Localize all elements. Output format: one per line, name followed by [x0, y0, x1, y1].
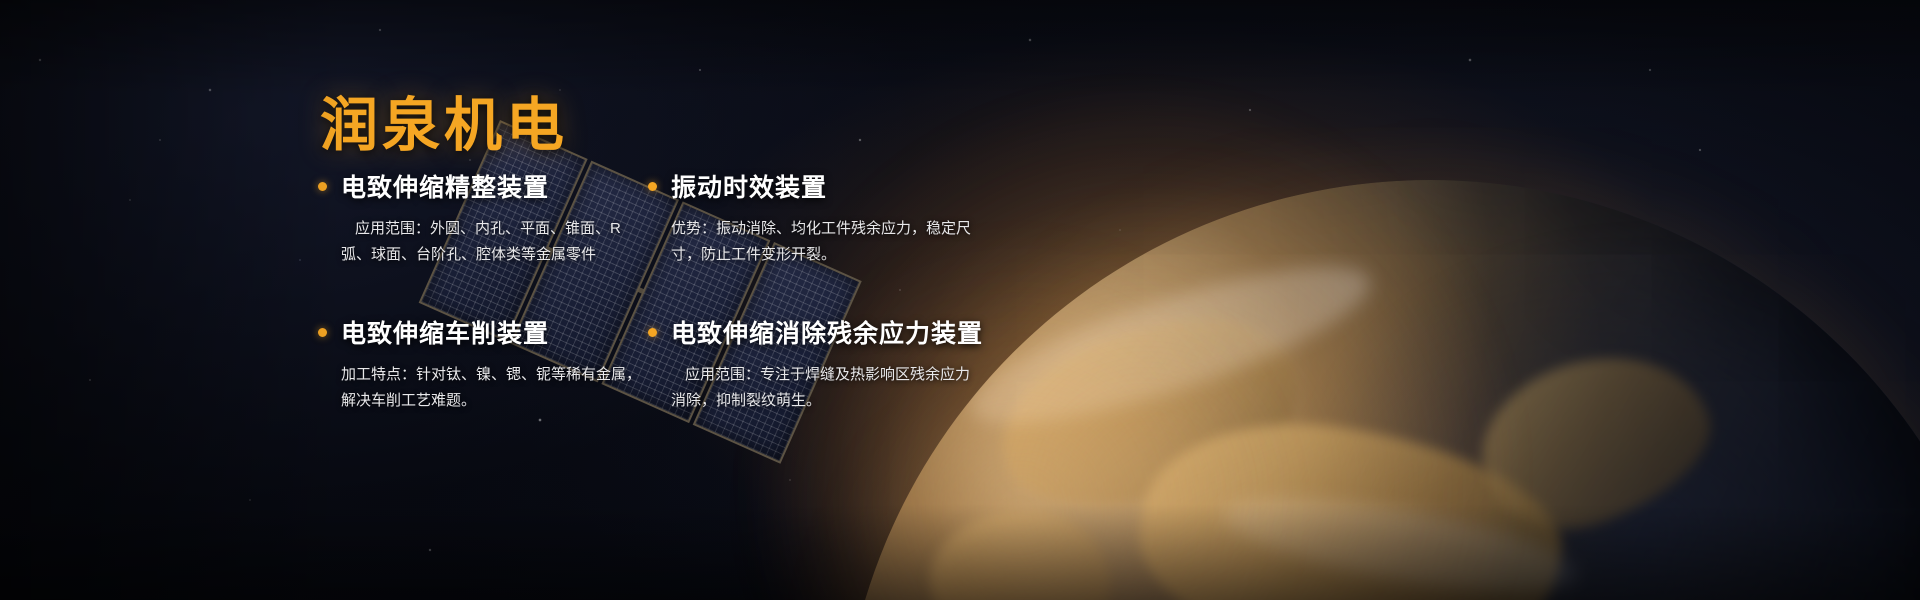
feature-heading: 电致伸缩精整装置 [318, 168, 648, 204]
feature-item[interactable]: 电致伸缩车削装置 加工特点：针对钛、镍、锶、铌等稀有金属，解决车削工艺难题。 [318, 314, 648, 414]
bullet-dot-icon [648, 328, 657, 337]
feature-title: 电致伸缩精整装置 [341, 168, 549, 204]
feature-description: 加工特点：针对钛、镍、锶、铌等稀有金属，解决车削工艺难题。 [341, 362, 641, 414]
feature-title: 电致伸缩车削装置 [341, 314, 549, 350]
feature-title: 振动时效装置 [671, 168, 827, 204]
feature-description: 应用范围：外圆、内孔、平面、锥面、R弧、球面、台阶孔、腔体类等金属零件 [341, 216, 641, 268]
bullet-dot-icon [648, 182, 657, 191]
bullet-dot-icon [318, 182, 327, 191]
hero-banner: 润泉机电 电致伸缩精整装置 应用范围：外圆、内孔、平面、锥面、R弧、球面、台阶孔… [0, 0, 1920, 600]
feature-column-right: 振动时效装置 优势：振动消除、均化工件残余应力，稳定尺寸，防止工件变形开裂。 电… [648, 168, 978, 414]
bullet-dot-icon [318, 328, 327, 337]
feature-heading: 振动时效装置 [648, 168, 978, 204]
feature-heading: 电致伸缩消除残余应力装置 [648, 314, 978, 350]
feature-title: 电致伸缩消除残余应力装置 [671, 314, 983, 350]
brand-title: 润泉机电 [320, 78, 568, 162]
feature-description: 优势：振动消除、均化工件残余应力，稳定尺寸，防止工件变形开裂。 [671, 216, 971, 268]
feature-item[interactable]: 电致伸缩精整装置 应用范围：外圆、内孔、平面、锥面、R弧、球面、台阶孔、腔体类等… [318, 168, 648, 268]
feature-description: 应用范围：专注于焊缝及热影响区残余应力消除，抑制裂纹萌生。 [671, 362, 971, 414]
feature-heading: 电致伸缩车削装置 [318, 314, 648, 350]
feature-item[interactable]: 电致伸缩消除残余应力装置 应用范围：专注于焊缝及热影响区残余应力消除，抑制裂纹萌… [648, 314, 978, 414]
feature-column-left: 电致伸缩精整装置 应用范围：外圆、内孔、平面、锥面、R弧、球面、台阶孔、腔体类等… [318, 168, 648, 414]
banner-content: 润泉机电 电致伸缩精整装置 应用范围：外圆、内孔、平面、锥面、R弧、球面、台阶孔… [0, 0, 1920, 600]
feature-item[interactable]: 振动时效装置 优势：振动消除、均化工件残余应力，稳定尺寸，防止工件变形开裂。 [648, 168, 978, 268]
